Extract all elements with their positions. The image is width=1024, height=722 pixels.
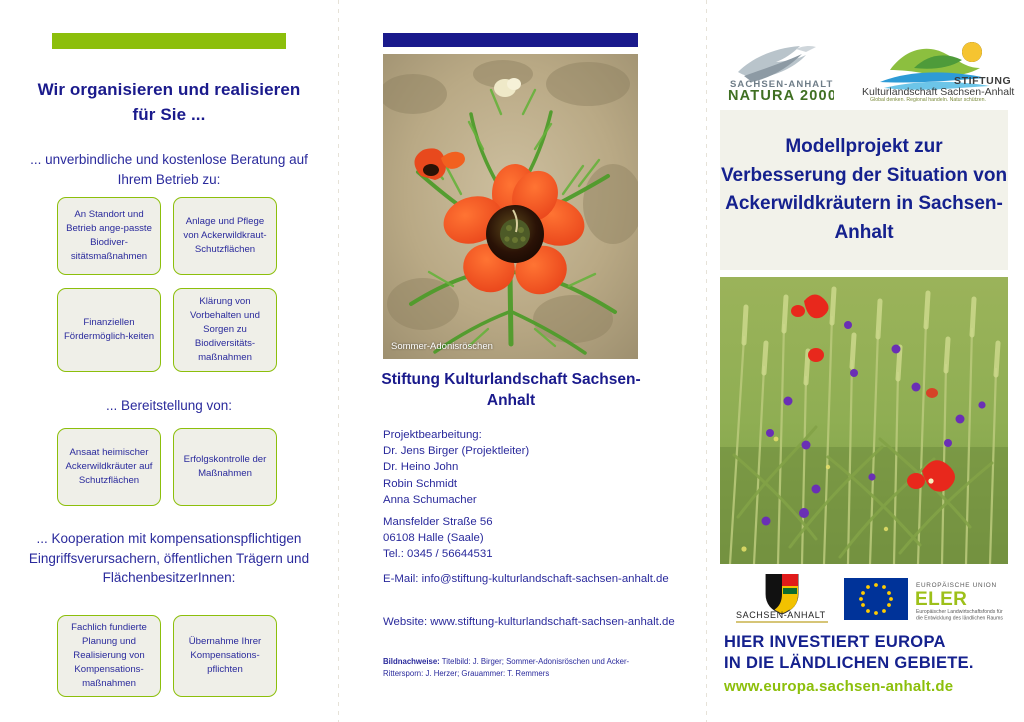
sachsen-anhalt-coat-of-arms: SACHSEN-ANHALT (736, 574, 828, 624)
photo-cornfield (720, 277, 1008, 564)
team-heading: Projektbearbeitung: (383, 427, 529, 443)
left-lead-bereitstellung: ... Bereitstellung von: (20, 396, 318, 416)
stiftung-logo-graphic: STIFTUNG Kulturlandschaft Sachsen-Anhalt… (854, 40, 1016, 102)
left-box-row-2: Finanziellen Fördermöglich-keiten Klärun… (57, 288, 277, 372)
eler-eu-logo: EUROPÄISCHE UNION ELER Europäischer Land… (844, 576, 1020, 622)
left-box-klaerung: Klärung von Vorbehalten und Sorgen zu Bi… (173, 288, 277, 372)
coat-of-arms-graphic: SACHSEN-ANHALT (736, 574, 828, 624)
image-credits: Bildnachweise: Titelbild: J. Birger; Som… (383, 656, 641, 679)
left-box-anlage-pflege: Anlage und Pflege von Ackerwildkraut-Sch… (173, 197, 277, 275)
left-box-planung: Fachlich fundierte Planung und Realisier… (57, 615, 161, 697)
organisation-title: Stiftung Kulturlandschaft Sachsen-Anhalt (366, 370, 656, 412)
sun-icon (962, 42, 982, 62)
team-member: Dr. Jens Birger (Projektleiter) (383, 443, 529, 459)
panel-right: SACHSEN-ANHALT NATURA 2000 STIFTUNG Kult… (706, 0, 1024, 722)
flower-photo-graphic: Sommer-Adonisröschen (383, 54, 638, 359)
address-block: Mansfelder Straße 56 06108 Halle (Saale)… (383, 514, 493, 563)
left-lead-kooperation: ... Kooperation mit kompensationspflicht… (20, 529, 318, 588)
left-box-row-3: Ansaat heimischer Ackerwildkräuter auf S… (57, 428, 277, 506)
coat-of-arms-label: SACHSEN-ANHALT (736, 610, 826, 620)
left-box-uebernahme: Übernahme Ihrer Kompensations-pflichten (173, 615, 277, 697)
address-city: 06108 Halle (Saale) (383, 530, 493, 546)
team-member: Robin Schmidt (383, 476, 529, 492)
panel-middle: Sommer-Adonisröschen Stiftung Kulturland… (338, 0, 706, 722)
crane-bird-icon (738, 46, 816, 82)
left-heading: Wir organisieren und realisieren für Sie… (24, 78, 314, 127)
eler-sub-line2: die Entwicklung des ländlichen Raums (916, 616, 1003, 622)
left-box-row-1: An Standort und Betrieb ange-passte Biod… (57, 197, 277, 275)
stiftung-claim-text: Global denken. Regional handeln. Natur s… (870, 97, 986, 102)
address-street: Mansfelder Straße 56 (383, 514, 493, 530)
eu-investment-line2: IN DIE LÄNDLICHEN GEBIETE. (724, 653, 1010, 674)
natura-2000-logo-graphic: SACHSEN-ANHALT NATURA 2000 (726, 42, 834, 102)
stiftung-kulturlandschaft-logo: STIFTUNG Kulturlandschaft Sachsen-Anhalt… (854, 40, 1016, 102)
top-logo-row: SACHSEN-ANHALT NATURA 2000 STIFTUNG Kult… (720, 42, 1014, 104)
left-box-foerdermoeglichkeiten: Finanziellen Fördermöglich-keiten (57, 288, 161, 372)
brochure-page: Wir organisieren und realisieren für Sie… (0, 0, 1024, 722)
photo-caption-text: Sommer-Adonisröschen (391, 341, 493, 352)
title-card: Modellprojekt zur Verbesserung der Situa… (720, 110, 1008, 270)
eler-label-text: ELER (915, 589, 967, 610)
cornfield-photo-graphic (720, 277, 1008, 564)
eu-web-url[interactable]: www.europa.sachsen-anhalt.de (724, 678, 1014, 695)
left-box-erfolgskontrolle: Erfolgskontrolle der Maßnahmen (173, 428, 277, 506)
team-member: Dr. Heino John (383, 459, 529, 475)
left-box-standort: An Standort und Betrieb ange-passte Biod… (57, 197, 161, 275)
website-line[interactable]: Website: www.stiftung-kulturlandschaft-s… (383, 614, 675, 630)
eu-investment-line1: HIER INVESTIERT EUROPA (724, 632, 1010, 653)
project-team-block: Projektbearbeitung: Dr. Jens Birger (Pro… (383, 427, 529, 508)
eu-investment-slogan: HIER INVESTIERT EUROPA IN DIE LÄNDLICHEN… (724, 632, 1010, 673)
left-box-row-4: Fachlich fundierte Planung und Realisier… (57, 615, 277, 697)
bottom-logo-row: SACHSEN-ANHALT EUROPÄISCHE UNION (720, 574, 1014, 626)
email-line[interactable]: E-Mail: info@stiftung-kulturlandschaft-s… (383, 571, 669, 587)
left-box-ansaat: Ansaat heimischer Ackerwildkräuter auf S… (57, 428, 161, 506)
eler-logo-graphic: EUROPÄISCHE UNION ELER Europäischer Land… (844, 576, 1020, 622)
phone-number: Tel.: 0345 / 56644531 (383, 546, 493, 562)
eler-sub-line1: Europäischer Landwirtschaftsfonds für (916, 609, 1003, 615)
natura-line2-text: NATURA 2000 (728, 88, 834, 102)
green-accent-bar (52, 33, 286, 49)
image-credits-label: Bildnachweise: (383, 657, 440, 666)
panel-left: Wir organisieren und realisieren für Sie… (0, 0, 338, 722)
left-lead-beratung: ... unverbindliche und kostenlose Beratu… (20, 150, 318, 189)
natura-2000-logo: SACHSEN-ANHALT NATURA 2000 (726, 42, 834, 102)
photo-adonisroeschen: Sommer-Adonisröschen (383, 54, 638, 359)
brochure-title: Modellprojekt zur Verbesserung der Situa… (720, 133, 1008, 247)
team-member: Anna Schumacher (383, 492, 529, 508)
blue-accent-bar (383, 33, 638, 47)
eu-label-text: EUROPÄISCHE UNION (916, 581, 997, 589)
